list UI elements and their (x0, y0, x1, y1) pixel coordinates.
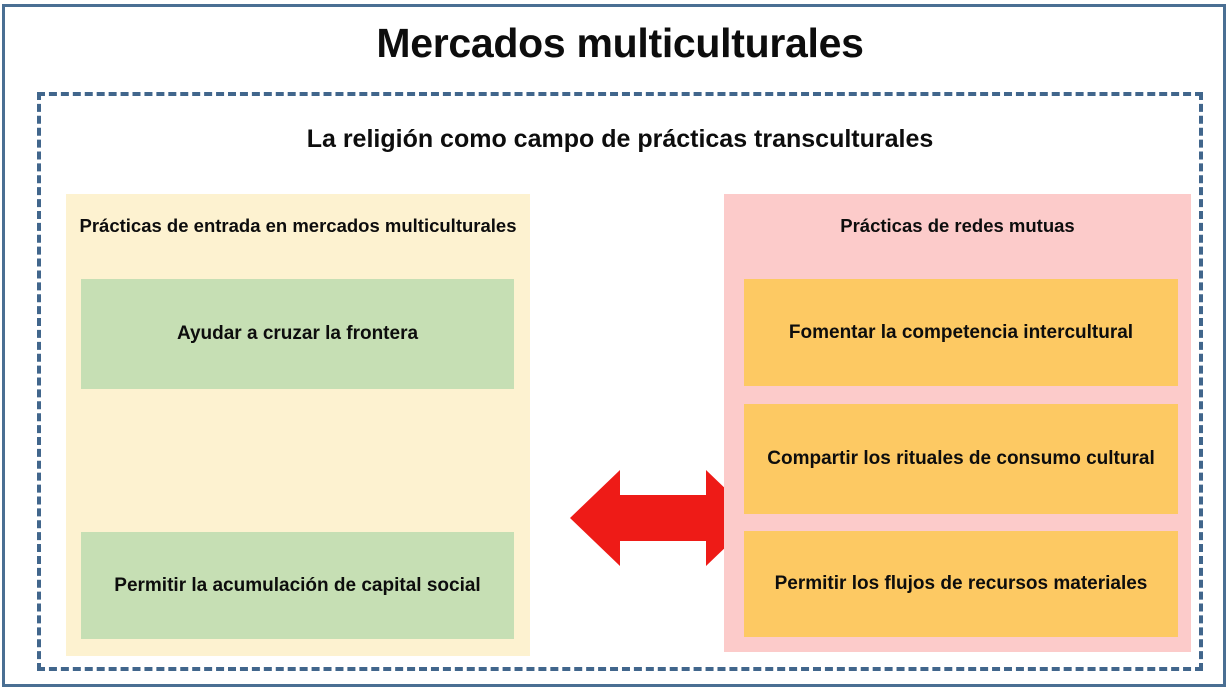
column-entry-practices: Prácticas de entrada en mercados multicu… (66, 194, 530, 656)
section-subtitle: La religión como campo de prácticas tran… (41, 125, 1199, 154)
column-network-header: Prácticas de redes mutuas (730, 214, 1185, 239)
practice-item-intercultural-competence[interactable]: Fomentar la competencia intercultural (744, 279, 1178, 386)
page-title: Mercados multiculturales (5, 21, 1230, 66)
practice-item-consumption-rituals[interactable]: Compartir los rituales de consumo cultur… (744, 404, 1178, 514)
practice-item-cross-border[interactable]: Ayudar a cruzar la frontera (81, 279, 514, 389)
column-entry-header: Prácticas de entrada en mercados multicu… (72, 214, 524, 239)
slide-frame: Mercados multiculturales La religión com… (2, 4, 1226, 687)
column-network-practices: Prácticas de redes mutuas Fomentar la co… (724, 194, 1191, 652)
practice-item-material-flows[interactable]: Permitir los flujos de recursos material… (744, 531, 1178, 637)
practice-item-social-capital[interactable]: Permitir la acumulación de capital socia… (81, 532, 514, 639)
transcultural-field-container: La religión como campo de prácticas tran… (37, 92, 1203, 671)
